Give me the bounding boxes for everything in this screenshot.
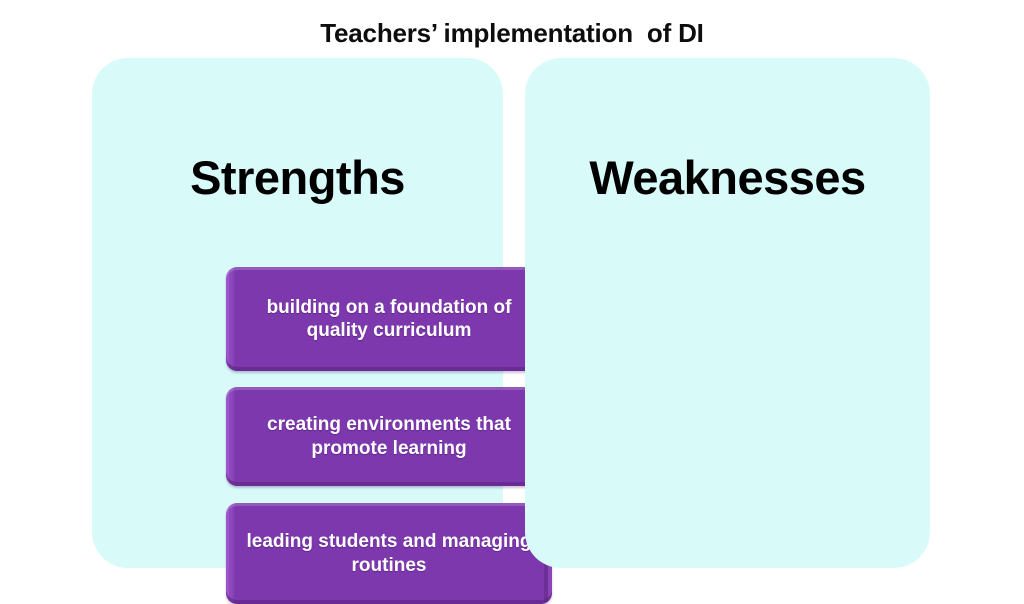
panel-heading-weaknesses: Weaknesses (525, 154, 930, 201)
page-title: Teachers’ implementation of DI (0, 18, 1024, 49)
strength-item-2[interactable]: creating environments that promote learn… (226, 387, 552, 486)
strength-item-3-label: leading students and managing routines (226, 530, 552, 576)
strength-item-1-label: building on a foundation of quality curr… (226, 296, 552, 342)
strength-item-2-label: creating environments that promote learn… (226, 413, 552, 459)
panel-heading-strengths: Strengths (92, 154, 503, 201)
strength-item-3[interactable]: leading students and managing routines (226, 503, 552, 604)
strength-item-1[interactable]: building on a foundation of quality curr… (226, 267, 552, 371)
panel-weaknesses: Weaknesses using assessment to drive tea… (525, 58, 930, 568)
panel-strengths: Strengths building on a foundation of qu… (92, 58, 503, 568)
